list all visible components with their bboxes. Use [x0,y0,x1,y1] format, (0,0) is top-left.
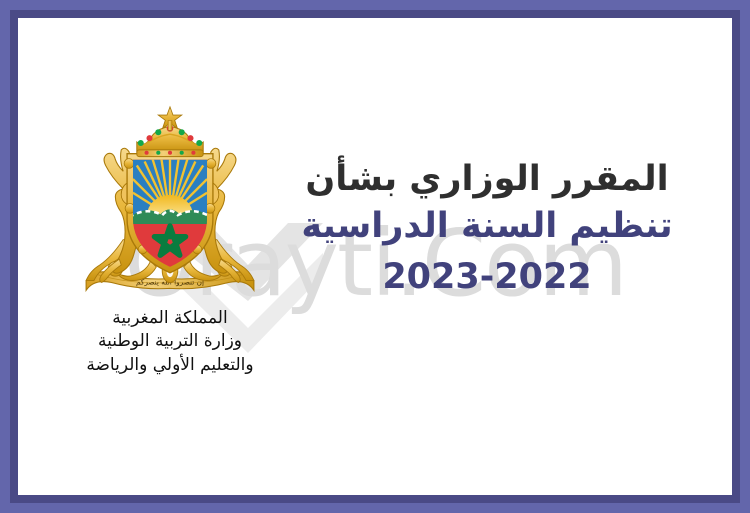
ministry-name: المملكة المغربية وزارة التربية الوطنية و… [55,307,285,377]
ministry-line-3: والتعليم الأولي والرياضة [55,354,285,377]
title-line-1: المقرر الوزاري بشأن [262,156,712,203]
school-year-label: 2023-2022 [262,256,712,298]
poster-title-block: المقرر الوزاري بشأن تنظيم السنة الدراسية… [262,156,712,298]
poster-canvas: Orayti.Com [18,18,732,495]
emblem-block: إن تنصروا الله ينصركم [55,103,285,377]
ministry-line-1: المملكة المغربية [55,307,285,330]
ministry-line-2: وزارة التربية الوطنية [55,330,285,353]
emblem-shield-field [129,156,211,273]
title-line-2: تنظيم السنة الدراسية [262,203,712,250]
morocco-coat-of-arms-icon: إن تنصروا الله ينصركم [72,103,268,303]
emblem-crown [137,107,203,157]
poster-root: Orayti.Com [0,0,750,513]
